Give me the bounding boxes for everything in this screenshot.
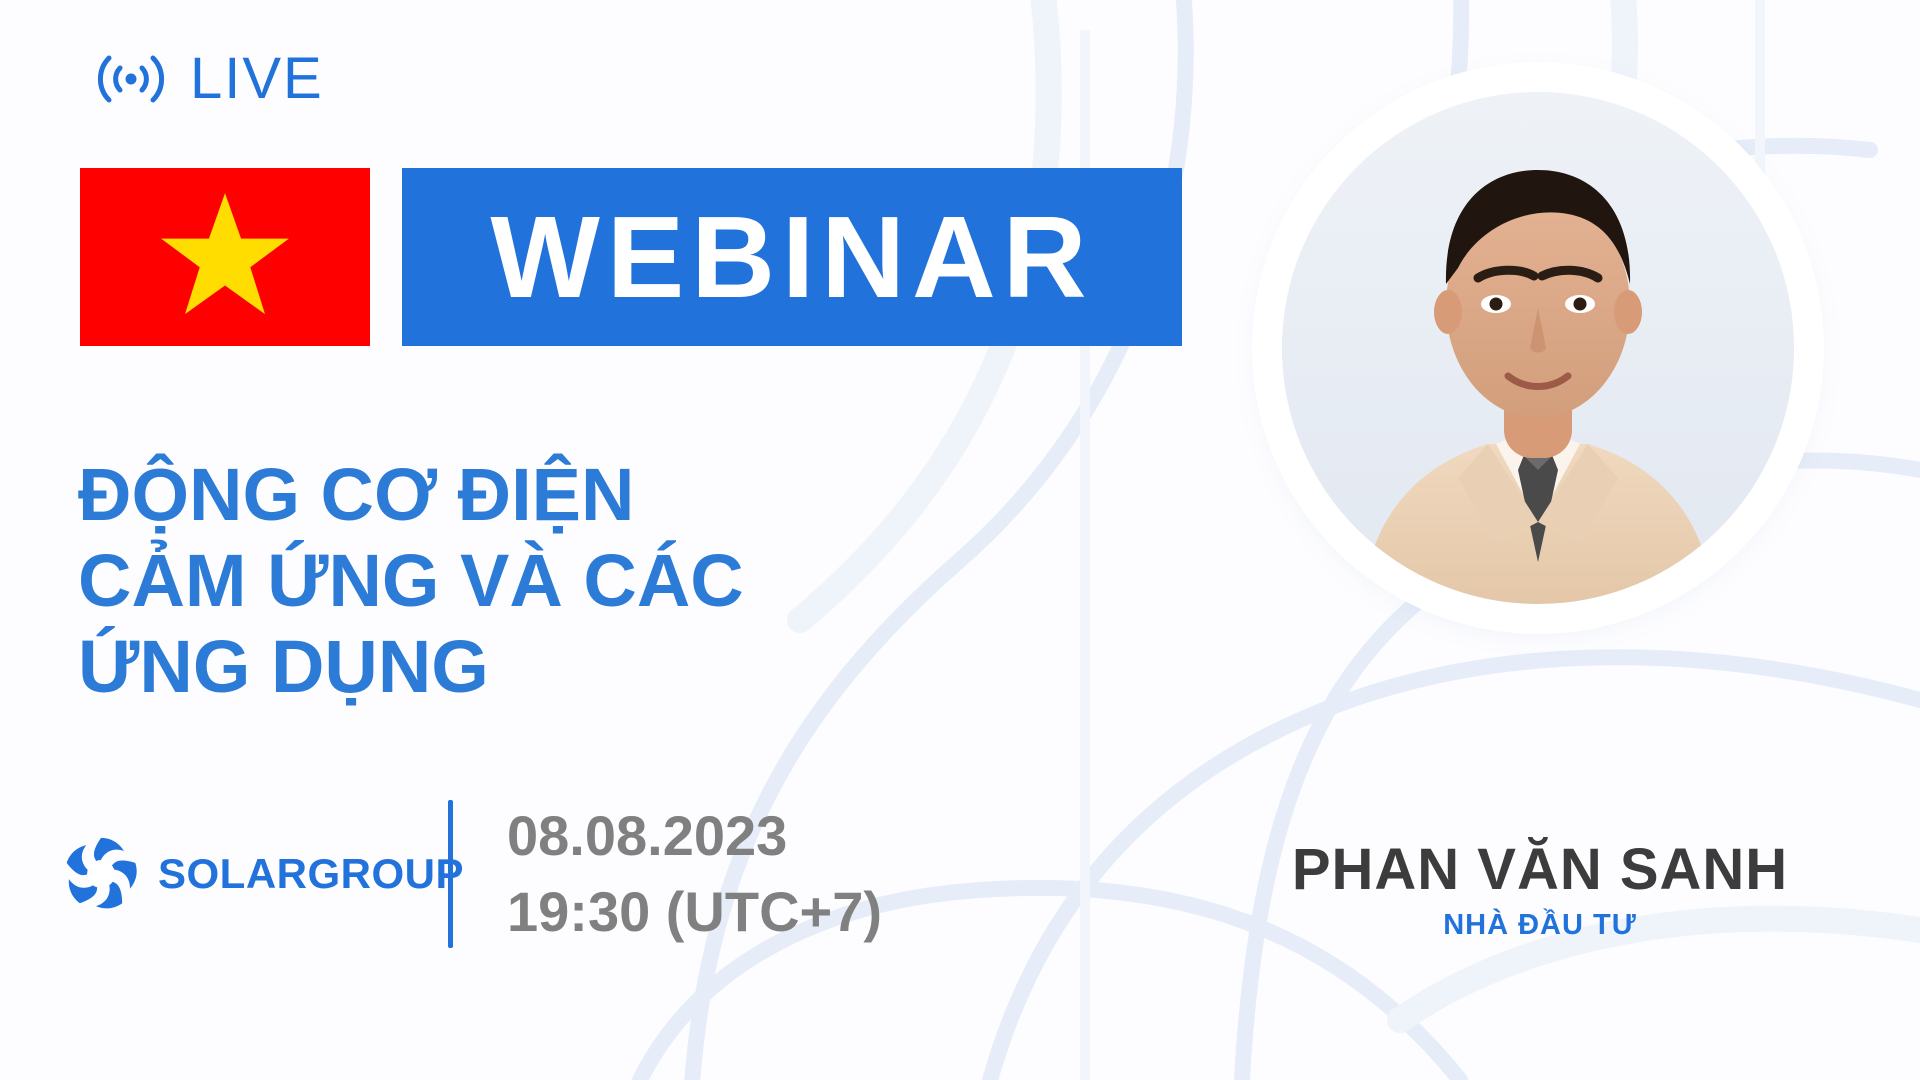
webinar-banner-box: WEBINAR <box>402 168 1182 346</box>
live-badge: LIVE <box>94 48 324 110</box>
flag-webinar-row: WEBINAR <box>80 168 1182 346</box>
title-line-1: ĐỘNG CƠ ĐIỆN <box>78 452 744 538</box>
portrait-illustration <box>1282 92 1794 604</box>
vertical-divider <box>448 800 453 948</box>
speaker-info: PHAN VĂN SANH NHÀ ĐẦU TƯ <box>1190 838 1890 942</box>
speaker-avatar <box>1268 78 1808 618</box>
page-title: ĐỘNG CƠ ĐIỆN CẢM ỨNG VÀ CÁC ỨNG DỤNG <box>78 452 744 709</box>
webinar-date: 08.08.2023 <box>507 805 882 867</box>
solar-swirl-icon <box>60 833 142 915</box>
broadcast-icon <box>94 48 168 110</box>
webinar-banner: LIVE WEBINAR ĐỘNG CƠ ĐIỆN CẢM ỨNG VÀ CÁC… <box>0 0 1920 1080</box>
footer-left: SOLARGROUP 08.08.2023 19:30 (UTC+7) <box>60 800 882 948</box>
speaker-name: PHAN VĂN SANH <box>1190 838 1890 902</box>
webinar-time: 19:30 (UTC+7) <box>507 881 882 943</box>
solargroup-logo: SOLARGROUP <box>60 833 410 915</box>
yellow-star-icon <box>157 189 293 325</box>
title-line-2: CẢM ỨNG VÀ CÁC <box>78 538 744 624</box>
schedule-block: 08.08.2023 19:30 (UTC+7) <box>507 805 882 942</box>
vietnam-flag <box>80 168 370 346</box>
solargroup-wordmark: SOLARGROUP <box>158 853 464 895</box>
webinar-label: WEBINAR <box>490 199 1093 315</box>
speaker-portrait <box>1282 92 1794 604</box>
live-label: LIVE <box>190 50 324 108</box>
title-line-3: ỨNG DỤNG <box>78 624 744 710</box>
speaker-role: NHÀ ĐẦU TƯ <box>1190 910 1890 942</box>
